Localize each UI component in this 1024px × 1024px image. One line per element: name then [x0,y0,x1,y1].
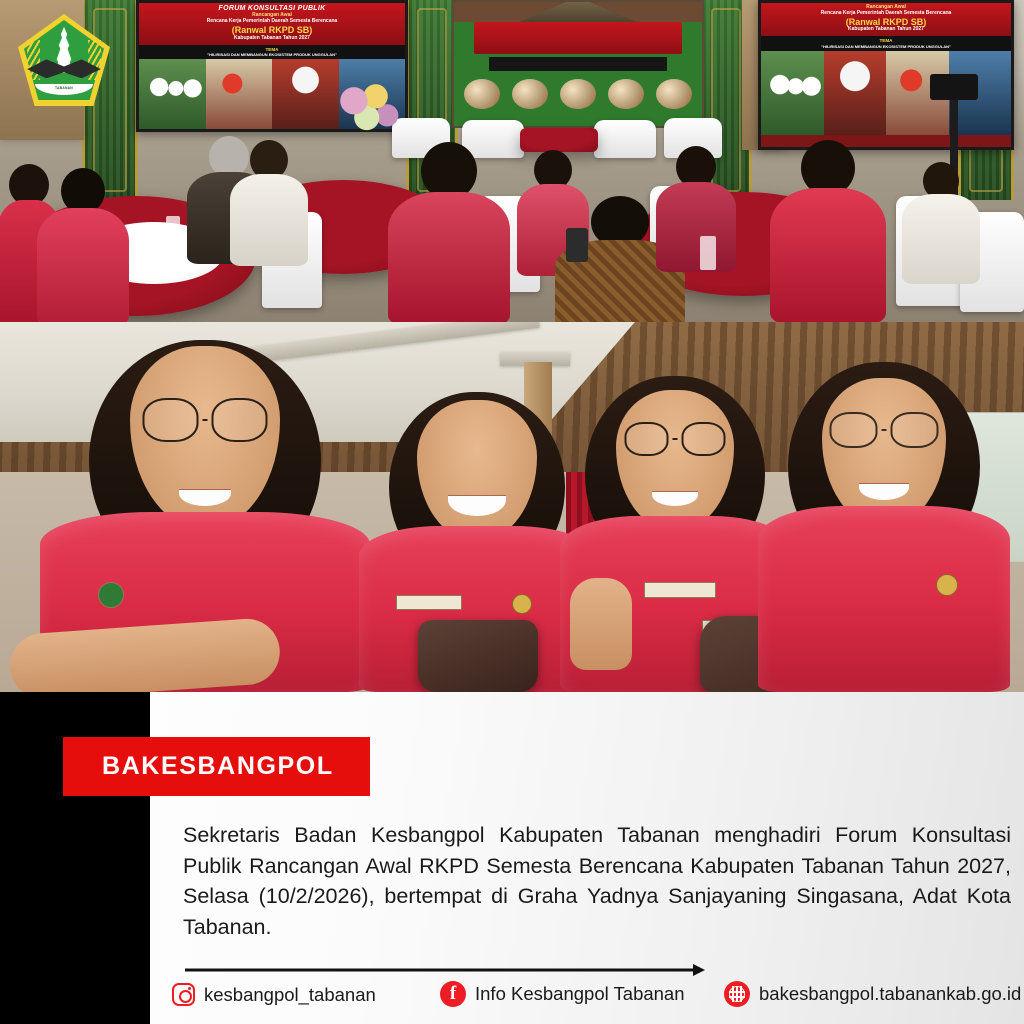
instagram-handle: kesbangpol_tabanan [204,984,376,1006]
website-item[interactable]: bakesbangpol.tabanankab.go.id [724,981,1021,1007]
person-1-glasses [143,398,268,442]
emblem-ribbon-text: TABANAN [35,84,94,90]
glasses-bridge [203,419,208,422]
screen-right-line5: Kabupaten Tabanan Tahun 2027 [764,27,1008,33]
guest-5 [394,142,504,322]
screen-left-tema: TEMA "HILIRISASI DAN MEMBANGUN EKOSISTEM… [139,45,405,60]
phone-in-hand [566,228,588,262]
guest-9 [780,140,876,322]
facebook-item[interactable]: Info Kesbangpol Tabanan [440,981,685,1007]
screen-right-tema-label: TEMA [879,38,892,43]
person-2-nametag [396,595,462,610]
person-4-emblem [936,574,958,596]
product-img-2 [512,79,549,110]
screen-photo-a [139,59,206,129]
screen-left-tema-text: "HILIRISASI DAN MEMBANGUN EKOSISTEM PROD… [141,52,403,57]
guest-body [770,188,886,322]
screen-left-tema-label: TEMA [265,47,278,52]
guest-10 [906,162,976,282]
screen-right-tema-text: "HILIRISASI DAN MEMBANGUN EKOSISTEM PROD… [763,44,1009,49]
website-url: bakesbangpol.tabanankab.go.id [759,983,1021,1005]
lens-right [891,412,939,448]
stage-sofa-3 [594,120,656,158]
social-footer: kesbangpol_tabanan Info Kesbangpol Taban… [150,980,1024,1020]
person-3-nametag [644,582,716,598]
water-glass-2 [700,236,716,270]
camera-head [930,74,978,100]
lens-right [212,398,268,442]
top-event-photo: FORUM KONSULTASI PUBLIK Rancangan Awal R… [0,0,1024,322]
product-img-3 [560,79,597,110]
screen-left-line5: Kabupaten Tabanan Tahun 2027 [142,36,402,42]
guest-body [656,182,736,272]
guest-body [37,208,129,322]
screen-r-photo-a [761,51,824,135]
backdrop-red-banner [474,22,682,54]
screen-photo-c [272,59,339,129]
person-3-thumbs-up [570,578,632,670]
flower-arrangement [336,84,400,140]
lens-left [625,422,669,456]
screen-r-photo-b [824,51,887,135]
guest-body [230,174,308,266]
tabanan-regency-emblem: TABANAN [18,14,110,106]
product-img-1 [464,79,501,110]
person-4-uniform [758,506,1010,692]
stage-backdrop-center [452,0,704,128]
person-4 [760,342,1008,692]
person-3-glasses [625,422,726,456]
facebook-page: Info Kesbangpol Tabanan [475,983,685,1005]
person-2-bag [418,620,538,692]
facebook-icon[interactable] [440,981,466,1007]
product-img-5 [656,79,693,110]
glasses-bridge [882,429,887,432]
guest-body [902,194,980,284]
globe-icon[interactable] [724,981,750,1007]
lens-right [682,422,726,456]
guest-body [388,192,510,322]
instagram-icon[interactable] [172,983,195,1006]
person-1-pin [98,582,124,608]
poster-canvas: FORUM KONSULTASI PUBLIK Rancangan Awal R… [0,0,1024,1024]
person-4-glasses [830,412,939,448]
water-glass-1 [166,216,180,246]
stage-low-table [520,128,598,152]
backdrop-product-images [464,67,692,122]
lens-left [830,412,878,448]
instagram-item[interactable]: kesbangpol_tabanan [172,983,376,1006]
backdrop-mountain [514,0,643,24]
product-img-4 [608,79,645,110]
guest-2 [44,168,122,322]
guest-4 [234,140,304,260]
bakesbangpol-badge-label: BAKESBANGPOL [63,752,334,781]
lens-left [143,398,199,442]
divider-arrow [185,963,705,977]
screen-right-tema: TEMA "HILIRISASI DAN MEMBANGUN EKOSISTEM… [761,36,1011,51]
screen-right-header: Rancangan Awal Rencana Kerja Pemerintah … [761,3,1011,36]
screen-left-header: FORUM KONSULTASI PUBLIK Rancangan Awal R… [139,3,405,45]
caption-text: Sekretaris Badan Kesbangpol Kabupaten Ta… [183,820,1011,942]
person-2-emblem [512,594,532,614]
guest-8 [660,146,732,266]
globe-latitude-lines [729,991,745,993]
selfie-photo [0,322,1024,692]
screen-photo-b [206,59,273,129]
glasses-bridge [673,438,678,441]
bakesbangpol-badge: BAKESBANGPOL [63,737,370,796]
